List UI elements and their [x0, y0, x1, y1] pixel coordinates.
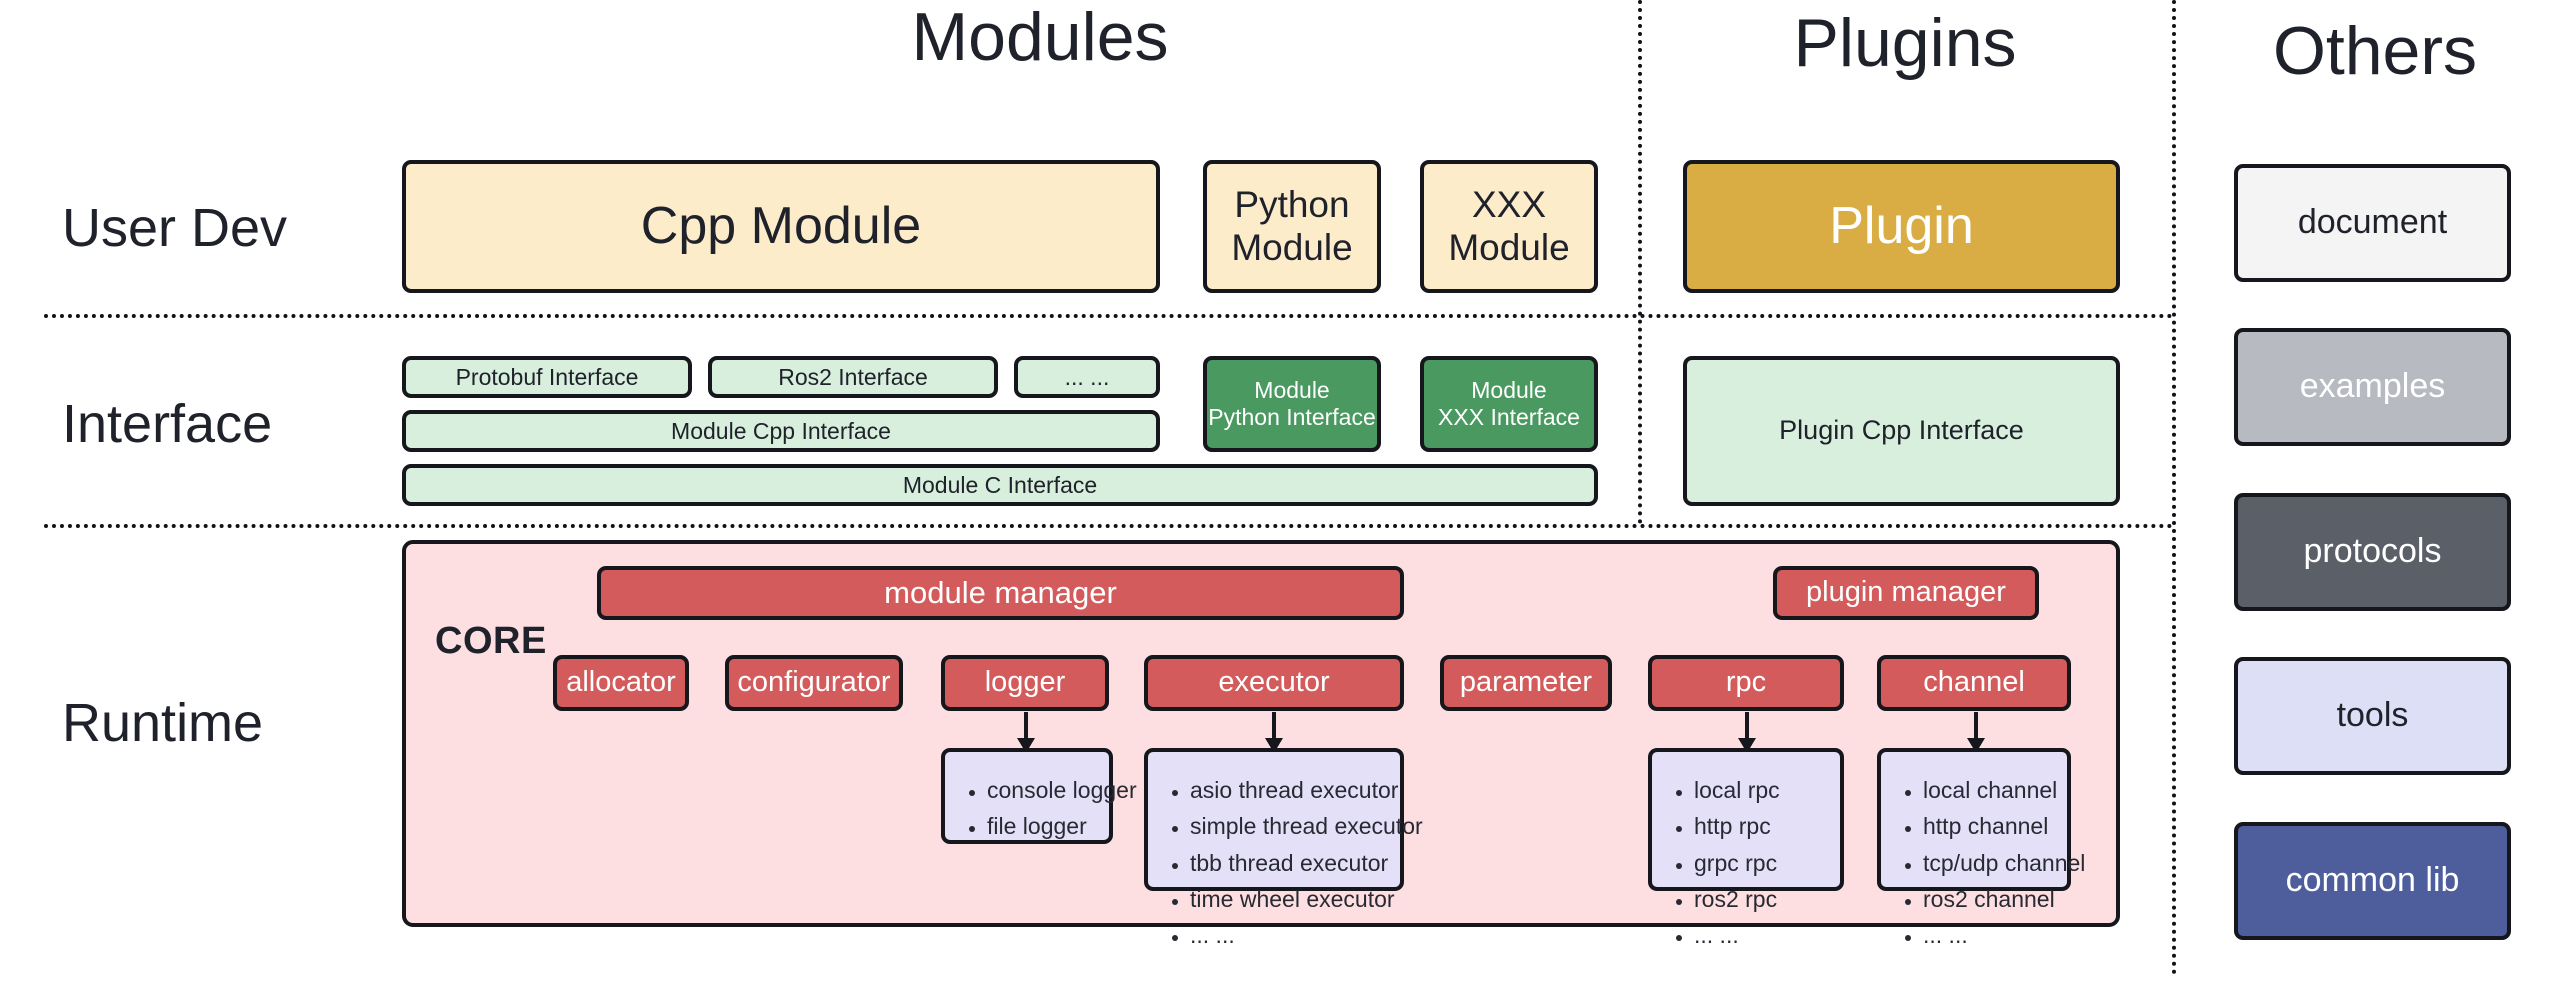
divider-plugins-others	[2172, 0, 2176, 975]
list-item: ... ...	[1190, 917, 1388, 953]
more-interface-box[interactable]: ... ...	[1014, 356, 1160, 398]
list-item: http channel	[1923, 808, 2055, 844]
executor-details-box: asio thread executorsimple thread execut…	[1144, 748, 1404, 891]
list-item: http rpc	[1694, 808, 1828, 844]
others-item-protocols[interactable]: protocols	[2234, 493, 2511, 611]
list-item: tbb thread executor	[1190, 845, 1388, 881]
rpc-details-box: local rpchttp rpcgrpc rpcros2 rpc... ...	[1648, 748, 1844, 891]
xxx-module-box[interactable]: XXX Module	[1420, 160, 1598, 293]
row-label-interface: Interface	[62, 393, 272, 455]
rpc-details-list: local rpchttp rpcgrpc rpcros2 rpc... ...	[1668, 772, 1828, 954]
core-component-channel[interactable]: channel	[1877, 655, 2071, 711]
core-label: CORE	[435, 620, 547, 663]
column-header-plugins: Plugins	[1655, 4, 2155, 82]
module-c-interface-box[interactable]: Module C Interface	[402, 464, 1598, 506]
list-item: asio thread executor	[1190, 772, 1388, 808]
row-label-runtime: Runtime	[62, 692, 263, 754]
module-manager-box[interactable]: module manager	[597, 566, 1404, 620]
column-header-others: Others	[2190, 12, 2560, 90]
row-label-user-dev: User Dev	[62, 197, 287, 259]
cpp-module-box[interactable]: Cpp Module	[402, 160, 1160, 293]
module-xxx-interface-box[interactable]: Module XXX Interface	[1420, 356, 1598, 452]
plugin-cpp-interface-box[interactable]: Plugin Cpp Interface	[1683, 356, 2120, 506]
list-item: time wheel executor	[1190, 881, 1388, 917]
plugin-box[interactable]: Plugin	[1683, 160, 2120, 293]
others-item-tools[interactable]: tools	[2234, 657, 2511, 775]
module-cpp-interface-box[interactable]: Module Cpp Interface	[402, 410, 1160, 452]
column-header-modules: Modules	[790, 0, 1290, 76]
logger-details-box: console loggerfile logger	[941, 748, 1113, 844]
list-item: local rpc	[1694, 772, 1828, 808]
list-item: simple thread executor	[1190, 808, 1388, 844]
executor-details-list: asio thread executorsimple thread execut…	[1164, 772, 1388, 954]
others-item-examples[interactable]: examples	[2234, 328, 2511, 446]
architecture-diagram: Modules Plugins Others User Dev Interfac…	[0, 0, 2560, 984]
list-item: local channel	[1923, 772, 2055, 808]
divider-modules-plugins	[1638, 0, 1642, 524]
list-item: tcp/udp channel	[1923, 845, 2055, 881]
python-module-box[interactable]: Python Module	[1203, 160, 1381, 293]
list-item: file logger	[987, 808, 1097, 844]
core-component-configurator[interactable]: configurator	[725, 655, 903, 711]
list-item: console logger	[987, 772, 1097, 808]
channel-details-box: local channelhttp channeltcp/udp channel…	[1877, 748, 2071, 891]
plugin-manager-box[interactable]: plugin manager	[1773, 566, 2039, 620]
core-component-logger[interactable]: logger	[941, 655, 1109, 711]
core-component-parameter[interactable]: parameter	[1440, 655, 1612, 711]
logger-details-list: console loggerfile logger	[961, 772, 1097, 845]
core-component-allocator[interactable]: allocator	[553, 655, 689, 711]
module-python-interface-box[interactable]: Module Python Interface	[1203, 356, 1381, 452]
others-item-document[interactable]: document	[2234, 164, 2511, 282]
protobuf-interface-box[interactable]: Protobuf Interface	[402, 356, 692, 398]
divider-userdev-interface	[44, 314, 2174, 318]
ros2-interface-box[interactable]: Ros2 Interface	[708, 356, 998, 398]
list-item: ros2 rpc	[1694, 881, 1828, 917]
core-component-executor[interactable]: executor	[1144, 655, 1404, 711]
list-item: ... ...	[1694, 917, 1828, 953]
list-item: ros2 channel	[1923, 881, 2055, 917]
list-item: grpc rpc	[1694, 845, 1828, 881]
list-item: ... ...	[1923, 917, 2055, 953]
core-component-rpc[interactable]: rpc	[1648, 655, 1844, 711]
others-item-common-lib[interactable]: common lib	[2234, 822, 2511, 940]
channel-details-list: local channelhttp channeltcp/udp channel…	[1897, 772, 2055, 954]
divider-interface-runtime	[44, 524, 2174, 528]
